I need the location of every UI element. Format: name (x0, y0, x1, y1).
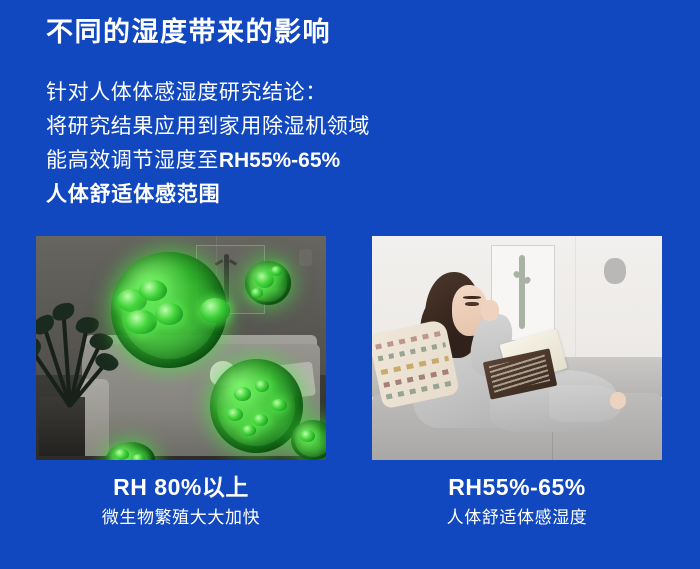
caption-high-humidity: RH 80%以上 微生物繁殖大大加快 (36, 470, 326, 532)
foot (610, 392, 626, 409)
microbe-cluster-icon (291, 420, 326, 460)
microbe-cluster-icon (111, 252, 227, 368)
body-line-1: 针对人体体感湿度研究结论： (46, 76, 370, 110)
panel-comfort-humidity-image (372, 236, 662, 460)
body-line-2: 将研究结果应用到家用除湿机领域 (46, 110, 370, 144)
caption-subtitle: 人体舒适体感湿度 (372, 504, 662, 532)
eye (465, 302, 479, 306)
hand-at-forehead (481, 300, 499, 321)
body-line-3-prefix: 能高效调节湿度至 (46, 149, 219, 172)
wall-speaker-icon (299, 249, 312, 266)
body-copy-block: 针对人体体感湿度研究结论： 将研究结果应用到家用除湿机领域 能高效调节湿度至RH… (46, 76, 370, 212)
humidity-range-highlight: RH55%-65% (219, 149, 340, 172)
body-line-3: 能高效调节湿度至RH55%-65% (46, 144, 370, 178)
dim-living-room-scene (36, 236, 326, 460)
caption-subtitle: 微生物繁殖大大加快 (36, 504, 326, 532)
caption-title: RH55%-65% (372, 470, 662, 504)
caption-comfort-humidity: RH55%-65% 人体舒适体感湿度 (372, 470, 662, 532)
comparison-panels (0, 236, 700, 460)
patterned-pillow (372, 318, 460, 409)
bright-living-room-scene (372, 236, 662, 460)
page-title: 不同的湿度带来的影响 (46, 15, 331, 50)
body-line-4: 人体舒适体感范围 (46, 178, 370, 212)
microbe-cluster-icon (210, 359, 303, 453)
humidity-infographic-poster: 不同的湿度带来的影响 针对人体体感湿度研究结论： 将研究结果应用到家用除湿机领域… (0, 0, 700, 569)
house-plant (36, 290, 109, 406)
panel-high-humidity-image (36, 236, 326, 460)
caption-title: RH 80%以上 (36, 470, 326, 504)
